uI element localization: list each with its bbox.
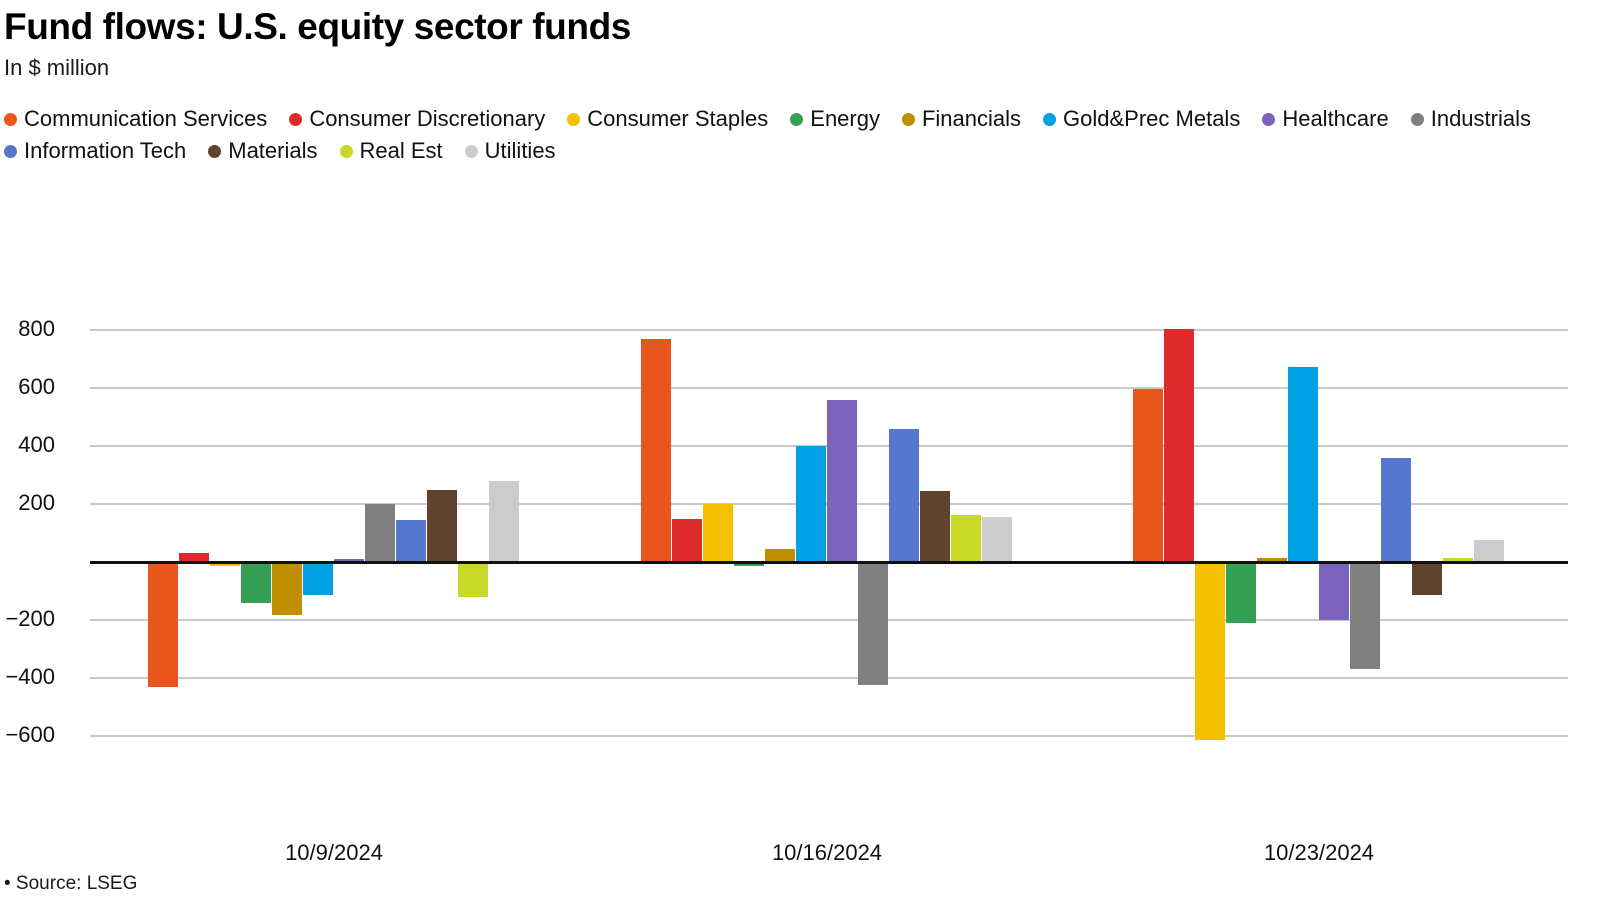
x-axis-tick-label: 10/23/2024 [1229,840,1409,866]
x-axis-tick-label: 10/16/2024 [737,840,917,866]
gridline [90,387,1568,389]
legend-item-label: Industrials [1431,106,1531,132]
legend-swatch-icon [1411,113,1424,126]
legend-swatch-icon [208,145,221,158]
x-axis-tick-label: 10/9/2024 [244,840,424,866]
chart-legend: Communication ServicesConsumer Discretio… [4,106,1564,170]
y-axis-tick-label: −400 [5,666,55,688]
bar [1474,540,1504,562]
y-axis-tick-label: 800 [18,318,55,340]
bar [920,491,950,562]
legend-item[interactable]: Utilities [465,138,556,164]
bar [365,504,395,562]
legend-swatch-icon [1043,113,1056,126]
bar [148,562,178,687]
source-note: • Source: LSEG [4,872,137,896]
bar [889,429,919,562]
bar [1226,562,1256,623]
plot-area: 800600400200−200−400−60010/9/202410/16/2… [90,310,1568,765]
legend-swatch-icon [465,145,478,158]
legend-item[interactable]: Consumer Discretionary [289,106,545,132]
legend-swatch-icon [567,113,580,126]
bar [1412,562,1442,594]
legend-item-label: Consumer Staples [587,106,768,132]
legend-item[interactable]: Healthcare [1262,106,1388,132]
legend-item[interactable]: Energy [790,106,880,132]
bar [858,562,888,685]
legend-swatch-icon [902,113,915,126]
legend-item-label: Communication Services [24,106,267,132]
legend-item[interactable]: Communication Services [4,106,267,132]
bar [427,490,457,562]
page-title: Fund flows: U.S. equity sector funds [4,4,1600,50]
legend-item[interactable]: Consumer Staples [567,106,768,132]
y-axis-tick-label: 400 [18,434,55,456]
legend-item[interactable]: Materials [208,138,317,164]
legend-item-label: Energy [810,106,880,132]
bar [489,481,519,562]
y-axis-tick-label: −600 [5,724,55,746]
y-axis-tick-label: −200 [5,608,55,630]
legend-swatch-icon [790,113,803,126]
legend-item[interactable]: Financials [902,106,1021,132]
gridline [90,329,1568,331]
bar [303,562,333,595]
legend-item-label: Financials [922,106,1021,132]
bar [951,515,981,562]
legend-item[interactable]: Industrials [1411,106,1531,132]
bar [241,562,271,603]
legend-item-label: Real Est [360,138,443,164]
bar [1319,562,1349,619]
legend-item-label: Materials [228,138,317,164]
legend-item[interactable]: Real Est [340,138,443,164]
legend-item-label: Healthcare [1282,106,1388,132]
legend-swatch-icon [340,145,353,158]
bar [396,520,426,563]
gridline [90,677,1568,679]
legend-item-label: Gold&Prec Metals [1063,106,1240,132]
chart-area: 800600400200−200−400−60010/9/202410/16/2… [0,275,1600,835]
bar [827,400,857,562]
y-axis-tick-label: 200 [18,492,55,514]
legend-item-label: Consumer Discretionary [309,106,545,132]
legend-swatch-icon [4,113,17,126]
gridline [90,735,1568,737]
bar [1195,562,1225,740]
legend-item[interactable]: Information Tech [4,138,186,164]
bar [272,562,302,615]
bar [672,519,702,562]
chart-header: Fund flows: U.S. equity sector funds In … [0,0,1600,82]
bar [1288,367,1318,562]
bar [982,517,1012,562]
bar [1164,329,1194,562]
legend-swatch-icon [289,113,302,126]
bar [458,562,488,597]
legend-item-label: Utilities [485,138,556,164]
bar [1133,389,1163,562]
legend-swatch-icon [1262,113,1275,126]
bar [703,504,733,562]
legend-item-label: Information Tech [24,138,186,164]
chart-subtitle: In $ million [4,54,1600,82]
legend-swatch-icon [4,145,17,158]
bar [796,446,826,562]
bar [1381,458,1411,562]
legend-item[interactable]: Gold&Prec Metals [1043,106,1240,132]
y-axis-tick-label: 600 [18,376,55,398]
zero-axis-line [90,561,1568,564]
bar [641,339,671,562]
bar [1350,562,1380,669]
